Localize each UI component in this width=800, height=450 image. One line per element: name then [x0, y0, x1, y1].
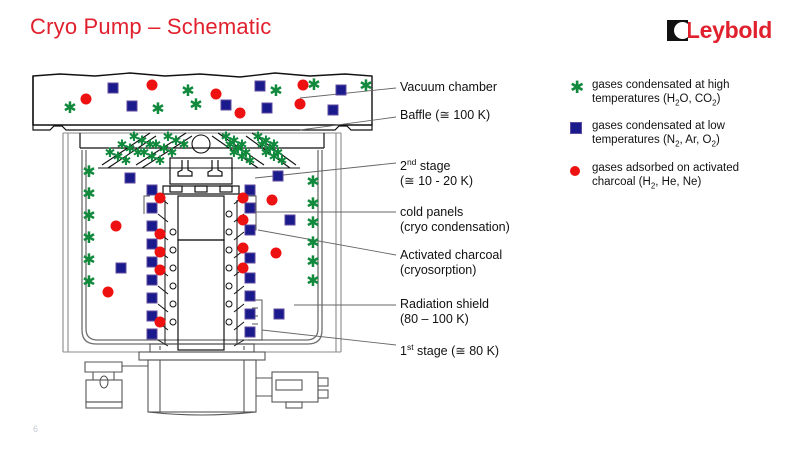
callout-leader-lines [252, 88, 396, 345]
gas-symbol-star: ✱ [179, 138, 190, 153]
legend-item-high-temp: ✱ gases condensated at high temperatures… [570, 78, 785, 110]
gas-symbol-circle [211, 89, 222, 100]
callout-activated-charcoal-line2: (cryosorption) [400, 263, 502, 278]
gas-symbol-star: ✱ [277, 154, 288, 169]
gas-symbol-circle [103, 287, 114, 298]
green-asterisk-icon: ✱ [570, 78, 592, 110]
gas-symbol-star: ✱ [82, 206, 95, 225]
gas-symbol-circle [155, 317, 166, 328]
callout-activated-charcoal-line1: Activated charcoal [400, 248, 502, 263]
callout-second-stage: 2nd stage (≅ 10 - 20 K) [400, 155, 473, 189]
legend-item-high-temp-line1: gases condensated at high [592, 78, 729, 92]
legend-item-adsorbed-line1: gases adsorbed on activated [592, 161, 739, 175]
gas-symbol-square [221, 100, 231, 110]
legend-item-low-temp-line1: gases condensated at low [592, 119, 725, 133]
gas-symbol-square [147, 329, 157, 339]
gas-symbol-circle [81, 94, 92, 105]
gas-symbol-square [336, 85, 346, 95]
gas-symbol-star: ✱ [155, 154, 166, 169]
gas-symbol-star: ✱ [63, 98, 76, 117]
gas-symbol-star: ✱ [245, 154, 256, 169]
gas-symbol-circle [238, 243, 249, 254]
gas-symbol-square [147, 275, 157, 285]
gas-symbol-square [147, 293, 157, 303]
gas-symbol-circle [155, 247, 166, 258]
legend-item-high-temp-line2: temperatures (H2O, CO2) [592, 92, 729, 110]
gas-symbol-square [245, 185, 255, 195]
gas-symbol-star: ✱ [306, 252, 319, 271]
callout-baffle: Baffle (≅ 100 K) [400, 108, 490, 123]
leader-baffle [300, 117, 396, 130]
gas-symbol-square [245, 203, 255, 213]
second-stage-head [170, 158, 232, 184]
legend-item-low-temp-line2: temperatures (N2, Ar, O2) [592, 133, 725, 151]
gas-symbol-star: ✱ [306, 233, 319, 252]
gas-symbol-square [147, 185, 157, 195]
gas-symbol-star: ✱ [82, 228, 95, 247]
gas-symbol-square [262, 103, 272, 113]
pump-outer-housing [63, 133, 341, 352]
gas-symbol-circle [238, 215, 249, 226]
gas-symbol-square [285, 215, 295, 225]
callout-radiation-shield-line2: (80 – 100 K) [400, 312, 489, 327]
gas-symbol-square [273, 171, 283, 181]
gas-symbol-star: ✱ [82, 184, 95, 203]
gas-symbol-square [245, 327, 255, 337]
callout-first-stage-line1: 1st stage (≅ 80 K) [400, 340, 499, 359]
gas-symbol-circle [271, 248, 282, 259]
red-circle-icon [570, 161, 592, 193]
gas-symbol-circle [267, 195, 278, 206]
callout-vacuum-chamber: Vacuum chamber [400, 80, 497, 95]
leader-first-stage [262, 330, 396, 345]
gas-symbol-square [116, 263, 126, 273]
gas-symbol-star: ✱ [306, 172, 319, 191]
gas-symbol-star: ✱ [189, 95, 202, 114]
callout-second-stage-line2: (≅ 10 - 20 K) [400, 174, 473, 189]
gas-symbol-star: ✱ [82, 272, 95, 291]
gas-symbol-circle [155, 229, 166, 240]
gas-symbol-star: ✱ [167, 146, 178, 161]
callout-first-stage: 1st stage (≅ 80 K) [400, 340, 499, 359]
gas-symbol-square [147, 221, 157, 231]
gas-symbol-star: ✱ [306, 213, 319, 232]
gas-symbol-star: ✱ [269, 81, 282, 100]
callout-radiation-shield: Radiation shield (80 – 100 K) [400, 297, 489, 327]
gas-symbol-star: ✱ [82, 250, 95, 269]
gas-symbol-square [147, 203, 157, 213]
gas-symbol-circle [155, 265, 166, 276]
legend-item-adsorbed: gases adsorbed on activated charcoal (H2… [570, 161, 785, 193]
gas-symbol-star: ✱ [359, 76, 372, 95]
gas-symbol-square [127, 101, 137, 111]
gas-symbol-circle [295, 99, 306, 110]
gas-symbol-square [245, 291, 255, 301]
gas-symbol-star: ✱ [307, 75, 320, 94]
callout-second-stage-line1: 2nd stage [400, 155, 473, 174]
gas-symbol-circle [238, 193, 249, 204]
gas-symbol-circle [238, 263, 249, 274]
callout-vacuum-chamber-line1: Vacuum chamber [400, 80, 497, 95]
legend: ✱ gases condensated at high temperatures… [570, 78, 785, 202]
radiation-shield-outline [82, 150, 322, 344]
legend-item-adsorbed-line2: charcoal (H2, He, Ne) [592, 175, 739, 193]
gas-symbol-star: ✱ [306, 271, 319, 290]
gas-symbol-circle [111, 221, 122, 232]
gas-symbol-square [245, 309, 255, 319]
gas-symbol-star: ✱ [121, 154, 132, 169]
gas-symbol-star: ✱ [306, 194, 319, 213]
callout-cold-panels-line1: cold panels [400, 205, 510, 220]
gas-symbol-star: ✱ [151, 99, 164, 118]
second-stage-cylinder [163, 186, 239, 350]
gas-symbol-square [274, 309, 284, 319]
gas-symbol-circle [155, 193, 166, 204]
gas-symbol-square [147, 257, 157, 267]
gas-symbol-layer: ✱✱✱✱✱✱✱✱✱✱✱✱✱✱✱✱✱✱✱✱✱✱✱✱✱✱✱✱✱✱✱✱✱✱✱✱✱✱✱✱… [63, 75, 372, 339]
cold-panel-stack [158, 196, 244, 346]
gas-symbol-square [255, 81, 265, 91]
callout-baffle-line1: Baffle (≅ 100 K) [400, 108, 490, 123]
gas-symbol-circle [147, 80, 158, 91]
first-stage-assembly [85, 344, 328, 415]
gas-symbol-square [147, 239, 157, 249]
gas-symbol-square [245, 273, 255, 283]
gas-symbol-square [125, 173, 135, 183]
callout-activated-charcoal: Activated charcoal (cryosorption) [400, 248, 502, 278]
gas-symbol-square [108, 83, 118, 93]
callout-cold-panels-line2: (cryo condensation) [400, 220, 510, 235]
gas-symbol-star: ✱ [82, 162, 95, 181]
gas-symbol-square [328, 105, 338, 115]
gas-symbol-square [245, 253, 255, 263]
navy-square-icon [570, 119, 592, 151]
callout-radiation-shield-line1: Radiation shield [400, 297, 489, 312]
legend-item-low-temp: gases condensated at low temperatures (N… [570, 119, 785, 151]
gas-symbol-circle [235, 108, 246, 119]
gas-symbol-square [245, 225, 255, 235]
callout-cold-panels: cold panels (cryo condensation) [400, 205, 510, 235]
